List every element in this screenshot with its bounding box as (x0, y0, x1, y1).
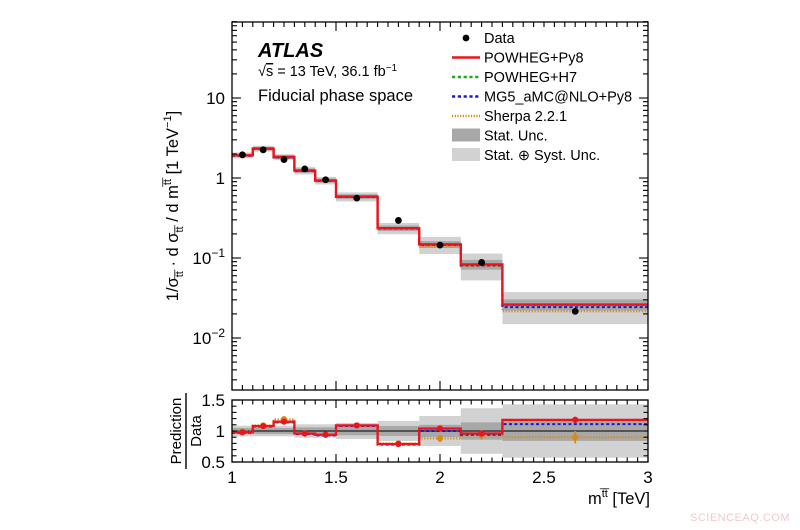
ratio-panel[interactable]: 0.511.511.522.53mt̅t̅ [TeV]PredictionDat… (168, 391, 653, 508)
main-panel[interactable]: 10110−110−2ATLAS√s = 13 TeV, 36.1 fb−1Fi… (162, 22, 648, 390)
legend-label: POWHEG+H7 (484, 70, 577, 86)
ratio-marker (479, 430, 485, 436)
legend-label: Data (484, 31, 516, 47)
data-point (395, 217, 402, 224)
y-tick-label: 10 (206, 89, 225, 108)
data-point (478, 259, 485, 266)
data-point (281, 156, 288, 163)
x-tick-label: 3 (643, 468, 652, 487)
luminosity-label: √s = 13 TeV, 36.1 fb−1 (258, 63, 398, 80)
data-point (322, 176, 329, 183)
legend-symbol-data[interactable] (463, 35, 470, 42)
ratio-title-numerator: Prediction (168, 398, 185, 465)
legend-label: POWHEG+Py8 (484, 51, 584, 67)
ratio-marker (260, 423, 266, 429)
x-tick-labels[interactable]: 11.522.53 (227, 468, 652, 487)
y-axis-title-text: 1/σt̅t̅ · d σt̅t̅ / d mt̅t̅ [1 TeV−1] (162, 111, 186, 301)
legend-label: Sherpa 2.2.1 (484, 109, 567, 125)
ratio-marker (572, 417, 578, 423)
fiducial-phase-space-label: Fiducial phase space (258, 87, 413, 105)
ratio-marker (239, 429, 245, 435)
watermark-scienceaq: SCIENCEAQ.COM (690, 512, 790, 524)
ratio-y-axis-title[interactable]: PredictionData (168, 393, 205, 469)
data-point (239, 151, 246, 158)
x-axis-title[interactable]: mt̅t̅ [TeV] (588, 488, 650, 508)
ratio-axis-title-group: PredictionData (168, 393, 205, 469)
ratio-marker (437, 435, 443, 441)
ratio-y-tick-label: 1.5 (201, 391, 225, 410)
main-y-axis-title[interactable]: 1/σt̅t̅ · d σt̅t̅ / d mt̅t̅ [1 TeV−1] (162, 111, 186, 301)
plot-canvas: 10110−110−2ATLAS√s = 13 TeV, 36.1 fb−1Fi… (0, 0, 800, 530)
x-tick-label: 2.5 (532, 468, 556, 487)
x-tick-label: 1.5 (324, 468, 348, 487)
legend-symbol-stat-unc-[interactable] (452, 129, 480, 142)
ttbar-mass-differential-cross-section-figure: 10110−110−2ATLAS√s = 13 TeV, 36.1 fb−1Fi… (0, 0, 800, 530)
legend-band-icon (452, 148, 480, 161)
data-point (301, 165, 308, 172)
x-axis-title-text: mt̅t̅ [TeV] (588, 488, 650, 508)
ratio-y-tick-label: 0.5 (201, 453, 225, 472)
data-point (353, 195, 360, 202)
legend-symbol-stat-syst-unc-[interactable] (452, 148, 480, 161)
ratio-y-tick-label: 1 (216, 422, 225, 441)
legend-band-icon (452, 129, 480, 142)
main-y-tick-labels[interactable]: 10110−110−2 (192, 89, 225, 348)
y-tick-label: 10−1 (192, 246, 225, 268)
data-point (260, 146, 267, 153)
ratio-marker (395, 441, 401, 447)
ratio-marker (354, 422, 360, 428)
legend-label: Stat. ⊕ Syst. Unc. (484, 148, 600, 164)
legend-label: Stat. Unc. (484, 129, 548, 145)
atlas-label: ATLAS (257, 40, 324, 62)
legend-marker-icon (463, 35, 470, 42)
legend-label: MG5_aMC@NLO+Py8 (484, 90, 632, 106)
ratio-marker (323, 432, 329, 438)
ratio-marker (437, 425, 443, 431)
data-point (437, 242, 444, 249)
ratio-marker (302, 430, 308, 436)
ratio-title-denominator: Data (188, 415, 205, 447)
y-tick-label: 1 (216, 169, 225, 188)
x-tick-label: 2 (435, 468, 444, 487)
ratio-marker (281, 419, 287, 425)
y-tick-label: 10−2 (192, 326, 225, 348)
ratio-marker (572, 434, 578, 440)
data-point (572, 308, 579, 315)
x-tick-label: 1 (227, 468, 236, 487)
